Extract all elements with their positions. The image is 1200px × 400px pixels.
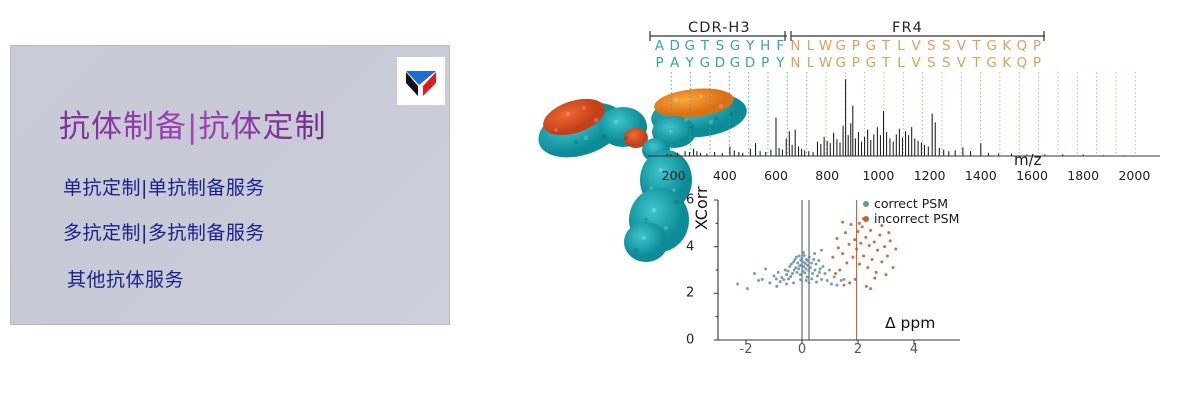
residue: P <box>1029 55 1044 71</box>
residue: A <box>652 38 667 54</box>
scatter-point <box>805 279 808 282</box>
residue: G <box>833 38 848 54</box>
scatter-point <box>857 230 860 233</box>
scatter-point <box>875 271 878 274</box>
scatter-point <box>789 275 792 278</box>
residue: P <box>758 55 773 71</box>
scatter-xtick-label: -2 <box>740 342 753 357</box>
scatter-point <box>782 278 785 281</box>
residue: V <box>954 55 969 71</box>
promo-link-monoclonal[interactable]: 单抗定制|单抗制备服务 <box>63 173 265 200</box>
scatter-point <box>777 271 780 274</box>
residue: S <box>939 55 954 71</box>
scatter-point <box>865 285 868 288</box>
scatter-xlabel: Δ ppm <box>885 314 935 332</box>
scatter-point <box>855 248 858 251</box>
promo-panel: 抗体制备|抗体定制 单抗定制|单抗制备服务 多抗定制|多抗制备服务 其他抗体服务 <box>10 45 450 325</box>
residue: S <box>712 38 727 54</box>
residue: P <box>848 55 863 71</box>
scatter-point <box>848 243 851 246</box>
scatter-legend: correct PSM incorrect PSM <box>863 196 959 226</box>
scatter-point <box>817 259 820 262</box>
scatter-point <box>833 276 836 279</box>
residue: W <box>818 38 833 54</box>
scatter-point <box>775 285 778 288</box>
scatter-ylabel: XCorr <box>692 186 711 230</box>
mz-tick-label: 800 <box>815 168 839 183</box>
scatter-point <box>753 272 756 275</box>
scatter-point <box>803 254 806 257</box>
scatter-point <box>864 236 867 239</box>
scatter-point <box>813 269 816 272</box>
residue: S <box>939 38 954 54</box>
mass-spectrum-panel: 200400600800100012001400160018002000 m/z <box>520 72 1200 188</box>
scatter-point <box>761 278 764 281</box>
scatter-xtick-label: 4 <box>910 342 918 357</box>
residue: G <box>727 55 742 71</box>
scatter-point <box>873 241 876 244</box>
promo-link-other-services[interactable]: 其他抗体服务 <box>67 265 184 292</box>
scatter-point <box>854 278 857 281</box>
residue: V <box>954 38 969 54</box>
scatter-point <box>787 270 790 273</box>
brand-logo-icon <box>397 57 445 105</box>
scatter-point <box>806 276 809 279</box>
scatter-point <box>820 249 823 252</box>
residue: Y <box>743 38 758 54</box>
scatter-point <box>866 266 869 269</box>
scatter-point <box>850 223 853 226</box>
residue: T <box>878 55 893 71</box>
residue: N <box>788 38 803 54</box>
residue: T <box>969 55 984 71</box>
scatter-point <box>802 251 805 254</box>
legend-dot-correct <box>863 201 869 207</box>
residue: P <box>848 38 863 54</box>
scatter-point <box>812 258 815 261</box>
residue: G <box>863 38 878 54</box>
scatter-point <box>894 248 897 251</box>
scatter-point <box>799 278 802 281</box>
residue: G <box>863 55 878 71</box>
mz-tick-label: 1600 <box>1016 168 1048 183</box>
scatter-point <box>858 263 861 266</box>
mz-tick-label: 1200 <box>914 168 946 183</box>
scatter-ytick-label: 0 <box>686 333 694 348</box>
scatter-xtick-label: 2 <box>854 342 862 357</box>
scatter-point <box>869 287 872 290</box>
legend-item-correct-psm: correct PSM <box>863 196 959 211</box>
scatter-point <box>869 229 872 232</box>
scatter-point <box>764 267 767 270</box>
scatter-point <box>892 266 895 269</box>
scatter-point <box>837 246 840 249</box>
scatter-point <box>853 238 856 241</box>
scatter-point <box>815 281 818 284</box>
scatter-point <box>843 284 846 287</box>
scatter-point <box>830 283 833 286</box>
scatter-point <box>838 269 841 272</box>
residue: D <box>667 38 682 54</box>
residue: A <box>667 55 682 71</box>
mz-tick-label: 1000 <box>862 168 894 183</box>
region-label-fr4: FR4 <box>892 20 923 36</box>
residue: H <box>758 38 773 54</box>
scatter-point <box>873 277 876 280</box>
scatter-point <box>871 258 874 261</box>
scatter-point <box>822 265 825 268</box>
residue: Y <box>682 55 697 71</box>
psm-scatter-panel: XCorr Δ ppm 0246 -2024 correct PSM incor… <box>680 192 980 367</box>
mass-spectrum-plot <box>648 72 1160 162</box>
scatter-point <box>876 249 879 252</box>
scatter-point <box>757 279 760 282</box>
scatter-point <box>808 281 811 284</box>
residue: V <box>909 55 924 71</box>
residue: L <box>894 55 909 71</box>
scatter-point <box>840 279 843 282</box>
scatter-point <box>801 257 804 260</box>
residue: Q <box>1014 38 1029 54</box>
scatter-point <box>746 287 749 290</box>
scatter-point <box>806 264 809 267</box>
scatter-point <box>883 245 886 248</box>
residue: L <box>894 38 909 54</box>
residue: G <box>984 55 999 71</box>
scatter-point <box>768 281 771 284</box>
scatter-point <box>780 276 783 279</box>
scatter-point <box>885 273 888 276</box>
scatter-point <box>804 267 807 270</box>
residue: P <box>652 55 667 71</box>
scatter-point <box>831 256 834 259</box>
scatter-point <box>794 266 797 269</box>
scatter-point <box>790 263 793 266</box>
residue: V <box>909 38 924 54</box>
scatter-point <box>823 272 826 275</box>
legend-label-correct: correct PSM <box>874 196 948 211</box>
scatter-point <box>807 269 810 272</box>
scatter-point <box>807 260 810 263</box>
legend-item-incorrect-psm: incorrect PSM <box>863 211 959 226</box>
scatter-point <box>836 284 839 287</box>
scatter-point <box>843 278 846 281</box>
scatter-point <box>889 239 892 242</box>
scatter-point <box>813 252 816 255</box>
legend-dot-incorrect <box>863 216 869 222</box>
scatter-point <box>859 242 862 245</box>
scatter-point <box>880 260 883 263</box>
residue: W <box>818 55 833 71</box>
scatter-point <box>826 279 829 282</box>
mz-tick-label: 2000 <box>1118 168 1150 183</box>
residue: G <box>682 38 697 54</box>
scatter-point <box>798 255 801 258</box>
mz-tick-label: 1400 <box>965 168 997 183</box>
scatter-point <box>819 267 822 270</box>
residue: T <box>878 38 893 54</box>
scatter-point <box>841 252 844 255</box>
scatter-point <box>795 271 798 274</box>
scatter-point <box>886 255 889 258</box>
scatter-point <box>836 237 839 240</box>
scatter-point <box>795 256 798 259</box>
scatter-point <box>858 222 861 225</box>
residue: S <box>924 38 939 54</box>
scatter-point <box>811 272 814 275</box>
scatter-point <box>820 278 823 281</box>
scatter-point <box>818 271 821 274</box>
residue: Q <box>1014 55 1029 71</box>
scatter-point <box>810 262 813 265</box>
residue: K <box>999 55 1014 71</box>
scatter-point <box>808 256 811 259</box>
scatter-point <box>775 277 778 280</box>
scatter-point <box>736 283 739 286</box>
residue: K <box>999 38 1014 54</box>
residue: D <box>743 55 758 71</box>
scatter-point <box>773 274 776 277</box>
mass-spectrum-xlabel: m/z <box>1014 151 1042 169</box>
scatter-ytick-label: 2 <box>686 286 694 301</box>
residue: N <box>788 55 803 71</box>
region-label-cdrh3: CDR-H3 <box>688 20 751 36</box>
residue: G <box>984 38 999 54</box>
scatter-ytick-label: 4 <box>686 239 694 254</box>
scatter-point <box>841 221 844 224</box>
residue: T <box>697 38 712 54</box>
scatter-point <box>796 262 799 265</box>
scatter-point <box>809 266 812 269</box>
residue: L <box>803 55 818 71</box>
residue: F <box>773 38 788 54</box>
residue: L <box>803 38 818 54</box>
promo-link-polyclonal[interactable]: 多抗定制|多抗制备服务 <box>63 218 265 245</box>
scatter-point <box>816 274 819 277</box>
residue: S <box>924 55 939 71</box>
scatter-point <box>862 255 865 258</box>
residue: G <box>727 38 742 54</box>
scatter-xtick-label: 0 <box>798 342 806 357</box>
peptide-sequence-row-1: ADGTSGYHFNLWGPGTLVSSVTGKQP <box>652 38 1044 54</box>
scatter-point <box>810 277 813 280</box>
scatter-point <box>791 272 794 275</box>
scatter-point <box>787 277 790 280</box>
scatter-point <box>785 273 788 276</box>
legend-label-incorrect: incorrect PSM <box>874 211 959 226</box>
residue: G <box>833 55 848 71</box>
residue: Y <box>773 55 788 71</box>
scatter-point <box>887 231 890 234</box>
scatter-point <box>815 263 818 266</box>
scatter-point <box>848 281 851 284</box>
scatter-point <box>834 272 837 275</box>
mz-tick-label: 1800 <box>1067 168 1099 183</box>
scatter-point <box>868 244 871 247</box>
residue: P <box>1029 38 1044 54</box>
peptide-sequence-row-2: PAYGDGDPYNLWGPGTLVSSVTGKQP <box>652 55 1044 71</box>
scatter-point <box>803 271 806 274</box>
mz-tick-label: 400 <box>713 168 737 183</box>
scatter-point <box>844 231 847 234</box>
scatter-point <box>792 281 795 284</box>
scatter-point <box>785 283 788 286</box>
residue: T <box>969 38 984 54</box>
scatter-point <box>784 269 787 272</box>
scatter-point <box>878 234 881 237</box>
scatter-point <box>851 256 854 259</box>
scatter-point <box>779 280 782 283</box>
residue: D <box>712 55 727 71</box>
scatter-point <box>799 273 802 276</box>
scatter-point <box>828 269 831 272</box>
residue: G <box>697 55 712 71</box>
scatter-point <box>797 267 800 270</box>
mz-tick-label: 200 <box>662 168 686 183</box>
scatter-point <box>845 262 848 265</box>
page-title: 抗体制备|抗体定制 <box>59 101 326 146</box>
scatter-point <box>802 265 805 268</box>
mz-tick-label: 600 <box>764 168 788 183</box>
scatter-ytick-label: 6 <box>686 193 694 208</box>
science-figure: CDR-H3 FR4 ADGTSGYHFNLWGPGTLVSSVTGKQP PA… <box>520 0 1200 400</box>
